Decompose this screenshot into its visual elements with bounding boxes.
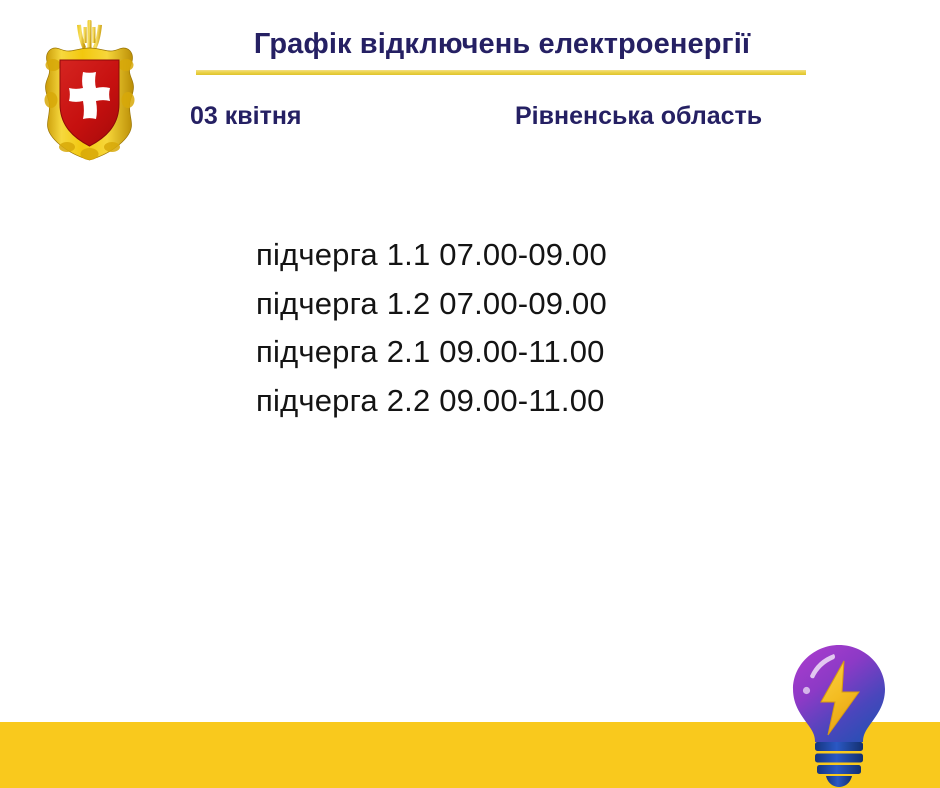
queue-label: підчерга [256,237,378,272]
queue-label: підчерга [256,286,378,321]
queue-label: підчерга [256,334,378,369]
region-name: Рівненська область [515,102,762,131]
coat-of-arms-rivne-oblast [27,8,152,168]
schedule-row: підчерга 2.2 09.00-11.00 [256,377,776,426]
queue-time-range: 07.00-09.00 [439,286,607,321]
schedule-row: підчерга 2.1 09.00-11.00 [256,328,776,377]
bulb-base-band [817,765,861,774]
outage-schedule-list: підчерга 1.1 07.00-09.00 підчерга 1.2 07… [256,231,776,425]
queue-time-range: 09.00-11.00 [439,383,604,418]
schedule-row: підчерга 1.2 07.00-09.00 [256,280,776,329]
bulb-base-band [815,754,863,763]
lightbulb-bolt-icon [780,640,898,788]
page-title: Графік відключень електроенергії [196,28,808,61]
bulb-base-band [815,742,863,751]
bulb-highlight-dot [803,687,810,694]
outage-schedule-card: Графік відключень електроенергії 03 квіт… [0,0,940,788]
schedule-date: 03 квітня [190,102,302,131]
queue-id: 2.2 [387,383,431,418]
queue-time-range: 09.00-11.00 [439,334,604,369]
queue-time-range: 07.00-09.00 [439,237,607,272]
queue-id: 1.2 [387,286,431,321]
bulb-base-tip [826,776,852,787]
subtitle-row: 03 квітня Рівненська область [190,102,840,138]
queue-id: 2.1 [387,334,431,369]
title-underline-rule [196,70,806,75]
schedule-row: підчерга 1.1 07.00-09.00 [256,231,776,280]
queue-id: 1.1 [387,237,431,272]
queue-label: підчерга [256,383,378,418]
